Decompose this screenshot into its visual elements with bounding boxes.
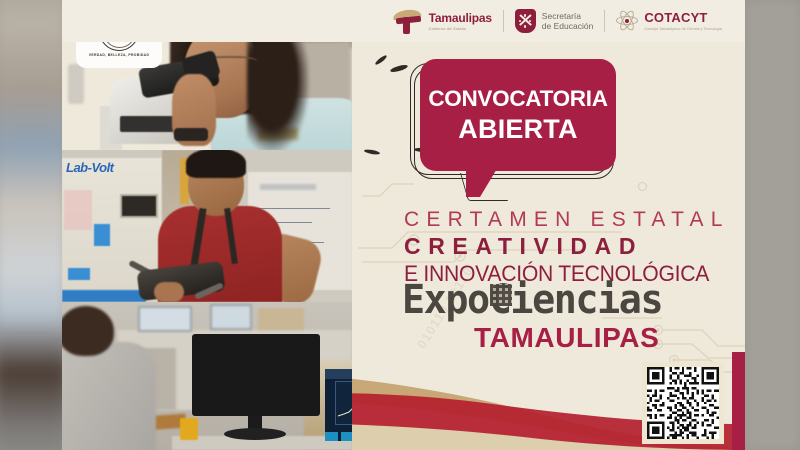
student-head bbox=[62, 306, 114, 356]
bubble-tail bbox=[466, 167, 498, 197]
poster: Lab-Volt bbox=[62, 0, 745, 450]
uat-seal-motto: VERDAD, BELLEZA, PROBIDAD bbox=[89, 53, 150, 57]
expo-qr-accent bbox=[490, 284, 512, 306]
monitor-base bbox=[224, 428, 286, 440]
expociencias-text: ExpoCiencias bbox=[402, 280, 662, 320]
labvolt-label: Lab-Volt bbox=[66, 160, 114, 175]
student-silhouette bbox=[62, 306, 156, 450]
red-corner-accent bbox=[732, 352, 745, 450]
student-hair bbox=[186, 150, 246, 178]
expociencias-wordmark: ExpoCiencias bbox=[402, 280, 673, 320]
photo-monitor bbox=[62, 302, 352, 450]
uat-seal-icon bbox=[99, 11, 139, 51]
title-line-certamen-estatal: CERTAMEN ESTATAL bbox=[404, 208, 744, 232]
panel-indicator-a bbox=[94, 224, 110, 246]
monitor-bezel bbox=[192, 334, 320, 416]
panel-device bbox=[120, 194, 158, 218]
wristwatch bbox=[174, 128, 208, 141]
title-line-creatividad: CREATIVIDAD bbox=[404, 233, 744, 260]
whiteboard-line bbox=[258, 208, 330, 209]
poster-content: CONVOCATORIA ABIERTA CERTAMEN ESTATAL CR… bbox=[352, 0, 745, 450]
qr-code[interactable] bbox=[647, 367, 719, 439]
panel-diagram-box bbox=[64, 190, 92, 230]
uat-seal-card: VERDAD, BELLEZA, PROBIDAD bbox=[76, 0, 162, 68]
letterbox-left bbox=[0, 0, 70, 450]
monitor-screen bbox=[325, 369, 352, 441]
bubble-text: CONVOCATORIA ABIERTA bbox=[420, 59, 616, 171]
photo-drone: Lab-Volt bbox=[62, 150, 352, 302]
software-toolbar bbox=[325, 369, 352, 379]
decor-dash bbox=[374, 54, 387, 66]
expociencias-state: TAMAULIPAS bbox=[474, 322, 659, 354]
whiteboard-heading bbox=[260, 184, 316, 190]
microscope-stage bbox=[120, 116, 178, 132]
bubble-line-1: CONVOCATORIA bbox=[428, 86, 607, 112]
waveform-trace bbox=[336, 382, 352, 426]
qr-code-card[interactable] bbox=[642, 362, 724, 444]
bubble-line-2: ABIERTA bbox=[458, 114, 577, 145]
convocatoria-bubble: CONVOCATORIA ABIERTA bbox=[400, 55, 620, 205]
panel-indicator-b bbox=[68, 268, 90, 280]
decor-ring bbox=[638, 182, 647, 191]
title-block: CERTAMEN ESTATAL CREATIVIDAD E INNOVACIÓ… bbox=[404, 208, 744, 287]
letterbox-right bbox=[745, 0, 800, 450]
student-hand bbox=[154, 282, 184, 302]
yellow-clamp bbox=[180, 418, 198, 440]
panel-indicator-c bbox=[62, 290, 146, 302]
wall-cabinet bbox=[258, 308, 304, 330]
video-player-frame: Lab-Volt bbox=[0, 0, 800, 450]
student-hair-back bbox=[247, 34, 309, 150]
waveform-plot bbox=[335, 381, 352, 425]
student-shirt bbox=[62, 342, 156, 450]
decor-dash bbox=[364, 149, 380, 156]
window bbox=[210, 304, 252, 330]
software-button-bar bbox=[325, 432, 352, 441]
lab-tube bbox=[68, 64, 84, 104]
